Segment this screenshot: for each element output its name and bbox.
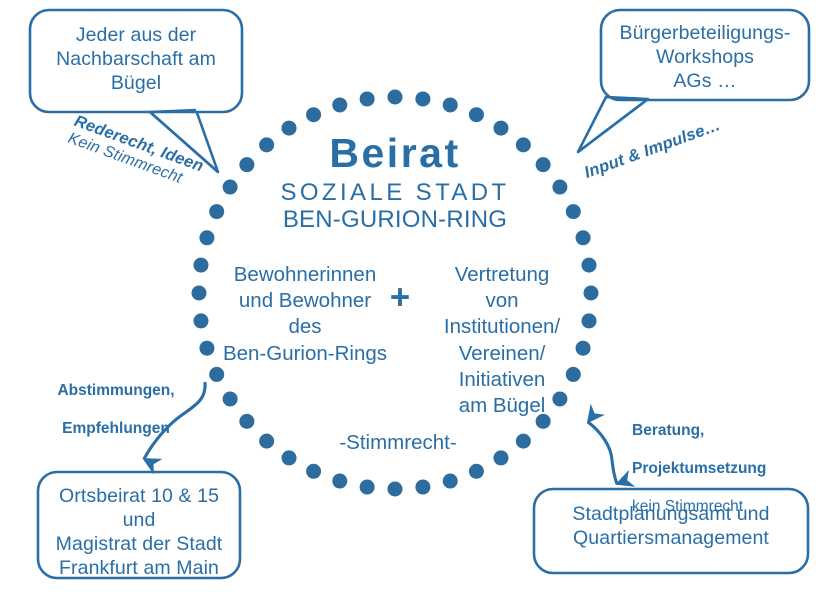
ring-dot <box>223 180 238 195</box>
annotation-beratung-line2: Projektumsetzung <box>632 459 812 479</box>
ring-dot <box>306 107 321 122</box>
annotation-beratung-line3: kein Stimmrecht <box>632 497 812 517</box>
ring-dot <box>332 474 347 489</box>
annotation-beratung-line1: Beratung, <box>632 421 812 441</box>
ring-dot <box>193 313 208 328</box>
ring-dot <box>388 90 403 105</box>
center-left-column: Bewohnerinnen und Bewohner des Ben-Gurio… <box>216 262 394 367</box>
center-footnote-stimmrecht: -Stimmrecht- <box>298 430 498 455</box>
subtitle-soziale-stadt: SOZIALE STADT <box>245 178 545 208</box>
ring-dot <box>415 91 430 106</box>
plus-sign: + <box>385 280 415 315</box>
ring-dot <box>443 474 458 489</box>
ring-dot <box>582 258 597 273</box>
ring-dot <box>516 434 531 449</box>
ring-dot <box>306 464 321 479</box>
ring-dot <box>388 482 403 497</box>
ring-dot <box>209 204 224 219</box>
ring-dot <box>582 313 597 328</box>
ring-dot <box>576 230 591 245</box>
annotation-abstimmungen-line2: Empfehlungen <box>36 419 196 439</box>
ring-dot <box>332 97 347 112</box>
ring-dot <box>199 341 214 356</box>
diagram-canvas: Jeder aus der Nachbarschaft am Bügel Bür… <box>0 0 820 600</box>
bubble-text-ortsbeirat: Ortsbeirat 10 & 15 und Magistrat der Sta… <box>40 485 238 581</box>
annotation-abstimmungen: Abstimmungen, Empfehlungen <box>36 363 196 457</box>
ring-dot <box>469 464 484 479</box>
ring-dot <box>443 97 458 112</box>
ring-dot <box>469 107 484 122</box>
bubble-text-neighbourhood: Jeder aus der Nachbarschaft am Bügel <box>32 24 240 96</box>
ring-dot <box>566 204 581 219</box>
subtitle-ben-gurion-ring: BEN-GURION-RING <box>245 205 545 235</box>
ring-dot <box>239 414 254 429</box>
ring-dot <box>584 286 599 301</box>
ring-dot <box>259 434 274 449</box>
ring-dot <box>223 391 238 406</box>
annotation-abstimmungen-line1: Abstimmungen, <box>36 381 196 401</box>
ring-dot <box>192 286 207 301</box>
annotation-beratung: Beratung, Projektumsetzung kein Stimmrec… <box>632 403 812 535</box>
ring-dot <box>360 480 375 495</box>
page-title: Beirat <box>245 128 545 178</box>
ring-dot <box>415 480 430 495</box>
ring-dot <box>209 367 224 382</box>
arrow-beratung <box>588 422 617 484</box>
ring-dot <box>193 258 208 273</box>
ring-dot <box>360 91 375 106</box>
bubble-text-participation: Bürgerbeteiligungs- Workshops AGs … <box>603 22 807 94</box>
ring-dot <box>282 450 297 465</box>
center-right-column: Vertretung von Institutionen/ Vereinen/ … <box>424 262 580 419</box>
ring-dot <box>199 230 214 245</box>
ring-dot <box>552 180 567 195</box>
